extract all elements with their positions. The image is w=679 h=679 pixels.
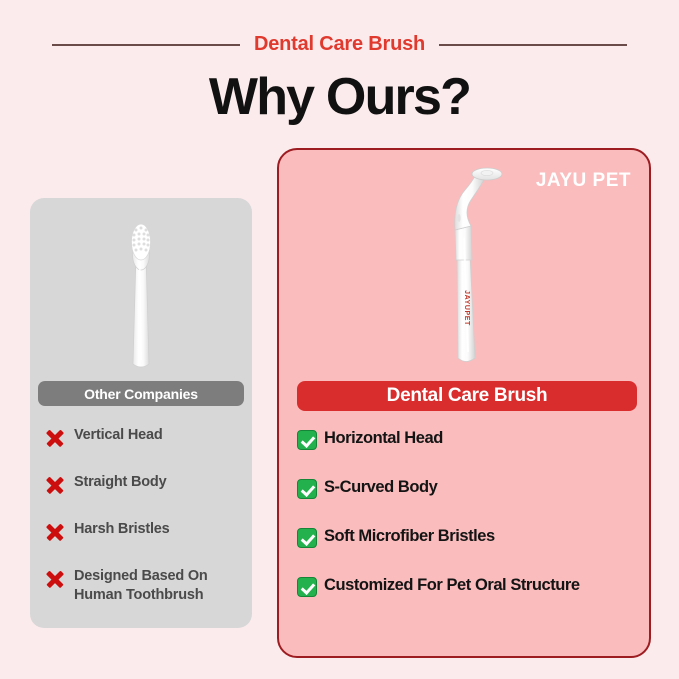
- divider-line-right: [439, 44, 627, 46]
- check-mark-icon: [297, 479, 317, 499]
- check-mark-icon: [297, 577, 317, 597]
- check-mark-icon: [297, 430, 317, 450]
- pet-dental-care-brush-image: JAYUPET: [279, 160, 653, 375]
- other-companies-panel: Other Companies Vertical Head Straight B…: [30, 198, 252, 628]
- list-item-label: Horizontal Head: [324, 428, 443, 449]
- list-item-label: S-Curved Body: [324, 477, 437, 498]
- list-item-label: Harsh Bristles: [74, 520, 170, 539]
- list-item-label: Straight Body: [74, 473, 166, 492]
- svg-text:JAYUPET: JAYUPET: [463, 290, 470, 326]
- list-item: Soft Microfiber Bristles: [297, 526, 642, 548]
- dental-care-brush-banner: Dental Care Brush: [297, 381, 637, 411]
- list-item: Customized For Pet Oral Structure: [297, 575, 642, 597]
- divider-line-left: [52, 44, 240, 46]
- page-header: Dental Care Brush Why Ours?: [0, 0, 679, 145]
- x-mark-icon: [44, 427, 66, 449]
- x-mark-icon: [44, 521, 66, 543]
- page-title: Why Ours?: [0, 68, 679, 128]
- list-item-label: Customized For Pet Oral Structure: [324, 575, 580, 596]
- list-item: Straight Body: [44, 473, 244, 496]
- list-item: Harsh Bristles: [44, 520, 244, 543]
- eyebrow-row: Dental Care Brush: [0, 33, 679, 56]
- list-item: Horizontal Head: [297, 428, 642, 450]
- list-item: S-Curved Body: [297, 477, 642, 499]
- x-mark-icon: [44, 474, 66, 496]
- dental-care-brush-panel: JAYU PET JAYUPET Den: [277, 148, 651, 658]
- other-companies-feature-list: Vertical Head Straight Body Harsh Bristl…: [44, 426, 244, 629]
- list-item: Vertical Head: [44, 426, 244, 449]
- human-toothbrush-image: [30, 214, 252, 379]
- check-mark-icon: [297, 528, 317, 548]
- list-item-label: Vertical Head: [74, 426, 162, 445]
- other-companies-banner: Other Companies: [38, 381, 244, 406]
- dental-care-brush-feature-list: Horizontal Head S-Curved Body Soft Micro…: [297, 428, 642, 624]
- list-item-label: Soft Microfiber Bristles: [324, 526, 495, 547]
- list-item: Designed Based On Human Toothbrush: [44, 567, 244, 605]
- list-item-label: Designed Based On Human Toothbrush: [74, 567, 234, 605]
- x-mark-icon: [44, 568, 66, 590]
- eyebrow-title: Dental Care Brush: [254, 33, 425, 56]
